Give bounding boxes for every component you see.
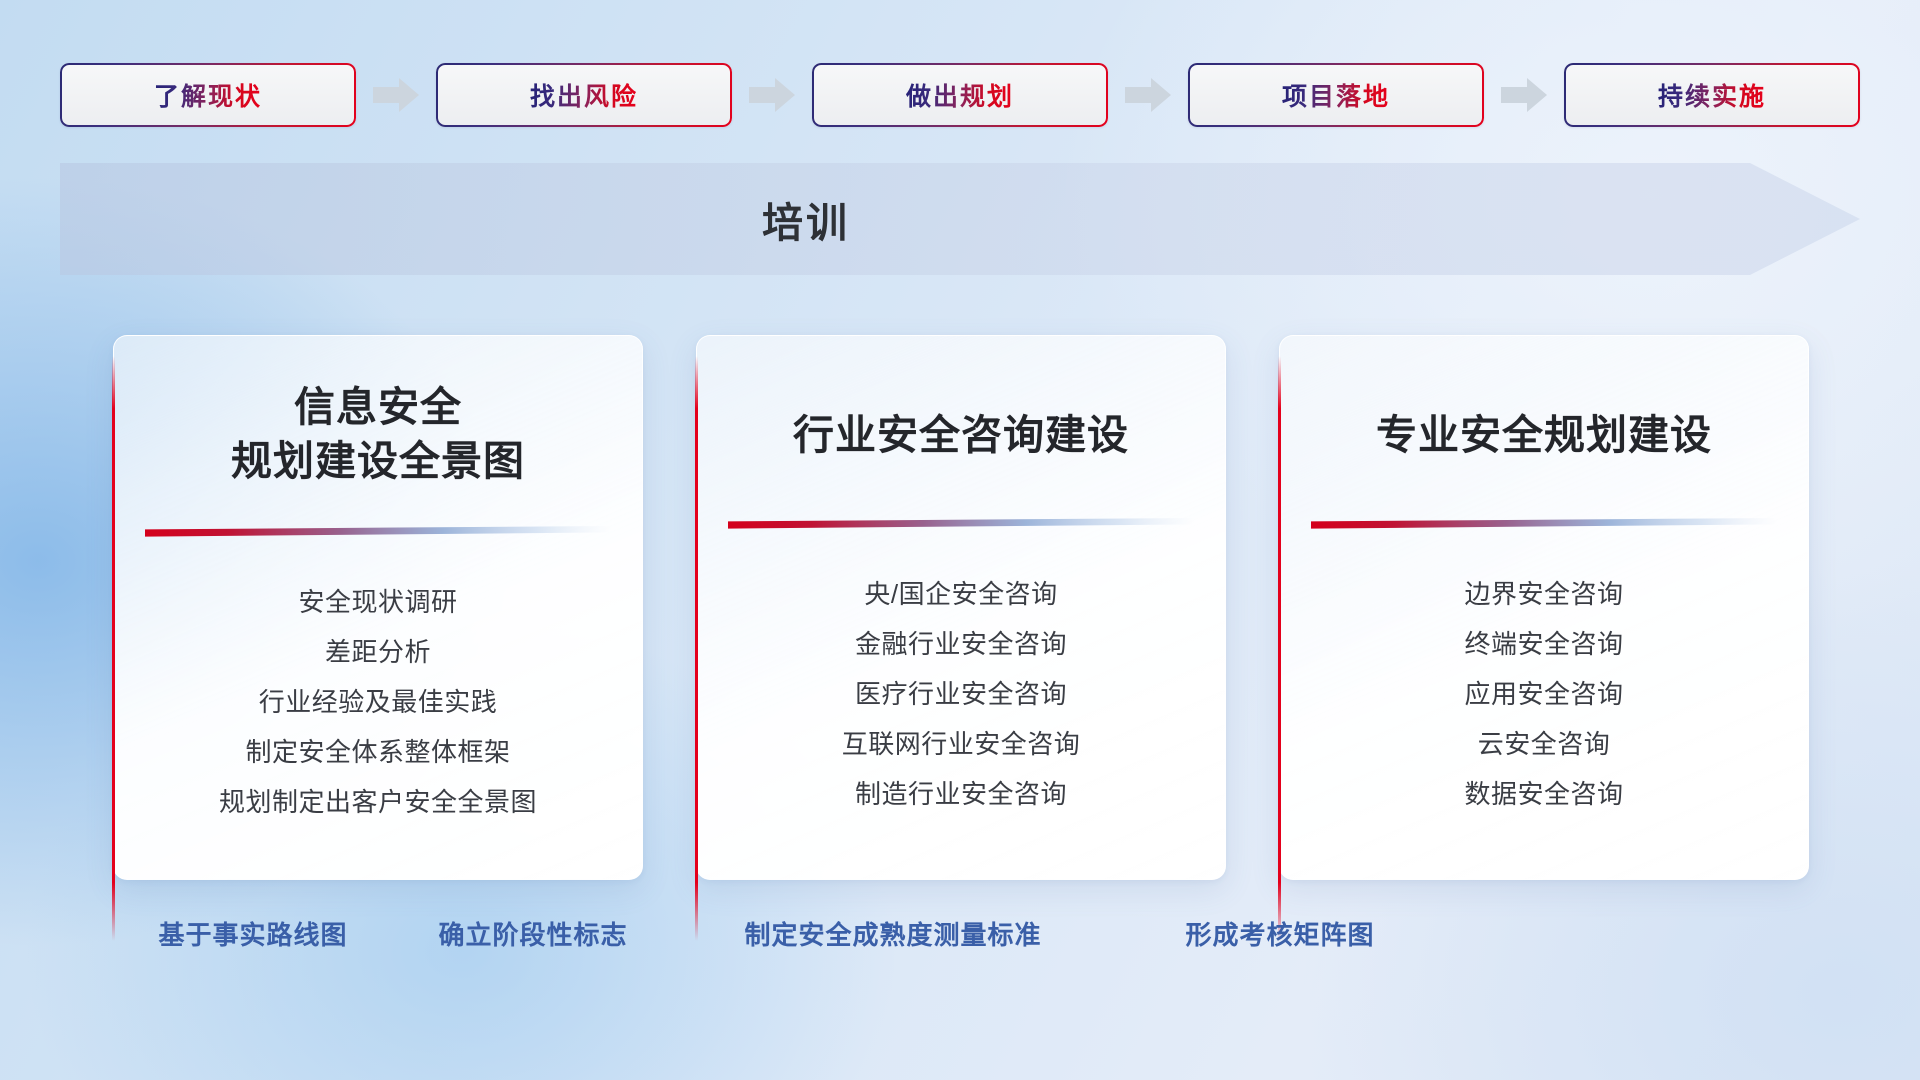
card-accent-bar-1 bbox=[695, 356, 698, 941]
slide-canvas: 了解现状 找出风险 做出规划 bbox=[0, 0, 1920, 1080]
card-title-0: 信息安全 规划建设全景图 bbox=[114, 380, 642, 488]
list-item: 制造行业安全咨询 bbox=[697, 769, 1225, 819]
list-item: 金融行业安全咨询 bbox=[697, 619, 1225, 669]
process-step-flow: 了解现状 找出风险 做出规划 bbox=[60, 62, 1860, 128]
bottom-label-roadmap: 基于事实路线图 bbox=[113, 915, 393, 952]
step-wrap-2: 做出规划 bbox=[812, 63, 1108, 127]
card-list-2: 边界安全咨询 终端安全咨询 应用安全咨询 云安全咨询 数据安全咨询 bbox=[1280, 569, 1808, 819]
step-arrow-icon-1 bbox=[749, 78, 795, 112]
step-wrap-1: 找出风险 bbox=[436, 63, 732, 127]
list-item: 差距分析 bbox=[114, 627, 642, 677]
list-item: 规划制定出客户安全全景图 bbox=[114, 777, 642, 827]
card-group: 信息安全 规划建设全景图 bbox=[0, 335, 1920, 880]
list-item: 安全现状调研 bbox=[114, 577, 642, 627]
step-label-2: 做出规划 bbox=[906, 77, 1014, 113]
card-accent-bar-2 bbox=[1278, 356, 1281, 941]
step-arrow-icon-3 bbox=[1501, 78, 1547, 112]
card-list-0: 安全现状调研 差距分析 行业经验及最佳实践 制定安全体系整体框架 规划制定出客户… bbox=[114, 577, 642, 827]
list-item: 云安全咨询 bbox=[1280, 719, 1808, 769]
step-button-1[interactable]: 找出风险 bbox=[436, 63, 732, 127]
list-item: 数据安全咨询 bbox=[1280, 769, 1808, 819]
step-button-4[interactable]: 持续实施 bbox=[1564, 63, 1860, 127]
bottom-label-maturity: 制定安全成熟度测量标准 bbox=[673, 915, 1113, 952]
step-label-3: 项目落地 bbox=[1282, 77, 1390, 113]
step-arrow-icon-2 bbox=[1125, 78, 1171, 112]
card-divider-1 bbox=[728, 518, 1194, 529]
list-item: 边界安全咨询 bbox=[1280, 569, 1808, 619]
step-wrap-4: 持续实施 bbox=[1564, 63, 1860, 127]
bottom-label-row: 基于事实路线图 确立阶段性标志 制定安全成熟度测量标准 形成考核矩阵图 bbox=[0, 915, 1920, 963]
list-item: 应用安全咨询 bbox=[1280, 669, 1808, 719]
step-button-2[interactable]: 做出规划 bbox=[812, 63, 1108, 127]
list-item: 医疗行业安全咨询 bbox=[697, 669, 1225, 719]
list-item: 行业经验及最佳实践 bbox=[114, 677, 642, 727]
step-wrap-0: 了解现状 bbox=[60, 63, 356, 127]
card-title-2: 专业安全规划建设 bbox=[1280, 408, 1808, 462]
list-item: 互联网行业安全咨询 bbox=[697, 719, 1225, 769]
card-information-security[interactable]: 信息安全 规划建设全景图 bbox=[113, 335, 643, 880]
card-divider-0 bbox=[145, 526, 611, 537]
step-label-4: 持续实施 bbox=[1658, 77, 1766, 113]
list-item: 制定安全体系整体框架 bbox=[114, 727, 642, 777]
step-label-1: 找出风险 bbox=[530, 77, 638, 113]
bottom-label-milestone: 确立阶段性标志 bbox=[393, 915, 673, 952]
card-industry-consulting[interactable]: 行业安全咨询建设 bbox=[696, 335, 1226, 880]
card-professional-planning[interactable]: 专业安全规划建设 bbox=[1279, 335, 1809, 880]
card-list-1: 央/国企安全咨询 金融行业安全咨询 医疗行业安全咨询 互联网行业安全咨询 制造行… bbox=[697, 569, 1225, 819]
banner-label: 培训 bbox=[60, 163, 1552, 275]
step-arrow-icon-0 bbox=[373, 78, 419, 112]
step-wrap-3: 项目落地 bbox=[1188, 63, 1484, 127]
step-button-0[interactable]: 了解现状 bbox=[60, 63, 356, 127]
card-divider-2 bbox=[1311, 518, 1777, 529]
step-button-3[interactable]: 项目落地 bbox=[1188, 63, 1484, 127]
step-label-0: 了解现状 bbox=[154, 77, 262, 113]
bottom-label-matrix: 形成考核矩阵图 bbox=[1140, 915, 1420, 952]
list-item: 终端安全咨询 bbox=[1280, 619, 1808, 669]
card-title-1: 行业安全咨询建设 bbox=[697, 408, 1225, 462]
card-accent-bar-0 bbox=[112, 356, 115, 941]
list-item: 央/国企安全咨询 bbox=[697, 569, 1225, 619]
training-banner: 培训 bbox=[60, 163, 1860, 275]
